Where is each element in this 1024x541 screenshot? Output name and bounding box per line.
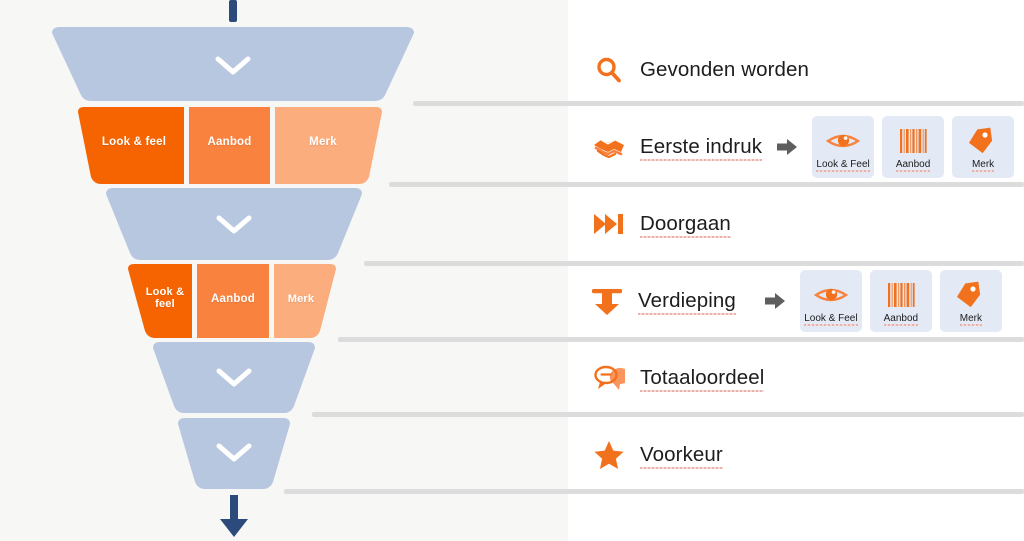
chip-label: Look & Feel [804, 313, 857, 324]
stage-title: Doorgaan [640, 212, 731, 236]
chip-merk[interactable]: Merk [940, 270, 1002, 332]
funnel-layer-3 [101, 188, 367, 260]
chip-label: Aanbod [896, 159, 930, 170]
separator-line-1 [413, 101, 1024, 106]
handshake-icon [590, 128, 628, 166]
chip-look-and-feel[interactable]: Look & Feel [812, 116, 874, 178]
chip-label: Merk [972, 159, 994, 170]
funnel-layer-1 [44, 27, 422, 101]
tag-icon [968, 126, 998, 156]
separator-line-4 [338, 337, 1024, 342]
chip-label: Look & Feel [816, 159, 869, 170]
eye-icon [826, 126, 860, 156]
funnel-layer-2: Look & feel Aanbod Merk [74, 107, 386, 184]
stage-row-totaaloordeel[interactable]: Totaaloordeel [590, 355, 764, 401]
attribute-chips: Look & Feel [812, 116, 1014, 178]
star-icon [590, 436, 628, 474]
chip-merk[interactable]: Merk [952, 116, 1014, 178]
separator-line-6 [284, 489, 1024, 494]
barcode-icon [899, 126, 927, 156]
stage-title: Totaaloordeel [640, 366, 764, 390]
stage-row-voorkeur[interactable]: Voorkeur [590, 432, 723, 478]
stage-title: Gevonden worden [640, 58, 809, 82]
chip-aanbod[interactable]: Aanbod [870, 270, 932, 332]
stage-row-doorgaan[interactable]: Doorgaan [590, 201, 731, 247]
funnel-layer-4: Look & feel Aanbod Merk [124, 264, 346, 338]
arrow-right-icon [764, 291, 786, 311]
chip-look-and-feel[interactable]: Look & Feel [800, 270, 862, 332]
funnel-layer-6 [173, 418, 295, 489]
chevron-down-icon [214, 442, 254, 464]
chip-label: Aanbod [884, 313, 918, 324]
separator-line-2 [389, 182, 1024, 187]
tag-icon [956, 280, 986, 310]
arrow-right-icon [776, 137, 798, 157]
download-arrow-icon [588, 282, 626, 320]
chip-aanbod[interactable]: Aanbod [882, 116, 944, 178]
chip-label: Merk [960, 313, 982, 324]
funnel-diagram: Look & feel Aanbod Merk Look & feel Aanb… [0, 0, 1024, 541]
chevron-down-icon [214, 367, 254, 389]
chat-bubbles-icon [590, 359, 628, 397]
barcode-icon [887, 280, 915, 310]
attribute-chips: Look & Feel [800, 270, 1002, 332]
stage-row-verdieping[interactable]: Verdieping Look & Feel [588, 278, 1002, 324]
eye-icon [814, 280, 848, 310]
stage-row-gevonden-worden[interactable]: Gevonden worden [590, 47, 809, 93]
stage-row-eerste-indruk[interactable]: Eerste indruk Look & Feel [590, 124, 1014, 170]
arrow-down-icon [212, 495, 256, 541]
stage-title: Eerste indruk [640, 135, 762, 159]
stage-title: Voorkeur [640, 443, 723, 467]
chevron-down-icon [213, 55, 253, 77]
separator-line-5 [312, 412, 1024, 417]
chevron-down-icon [214, 214, 254, 236]
stage-title: Verdieping [638, 289, 736, 313]
search-icon [590, 51, 628, 89]
funnel-layer-5 [148, 342, 320, 413]
fast-forward-icon [590, 205, 628, 243]
separator-line-3 [364, 261, 1024, 266]
